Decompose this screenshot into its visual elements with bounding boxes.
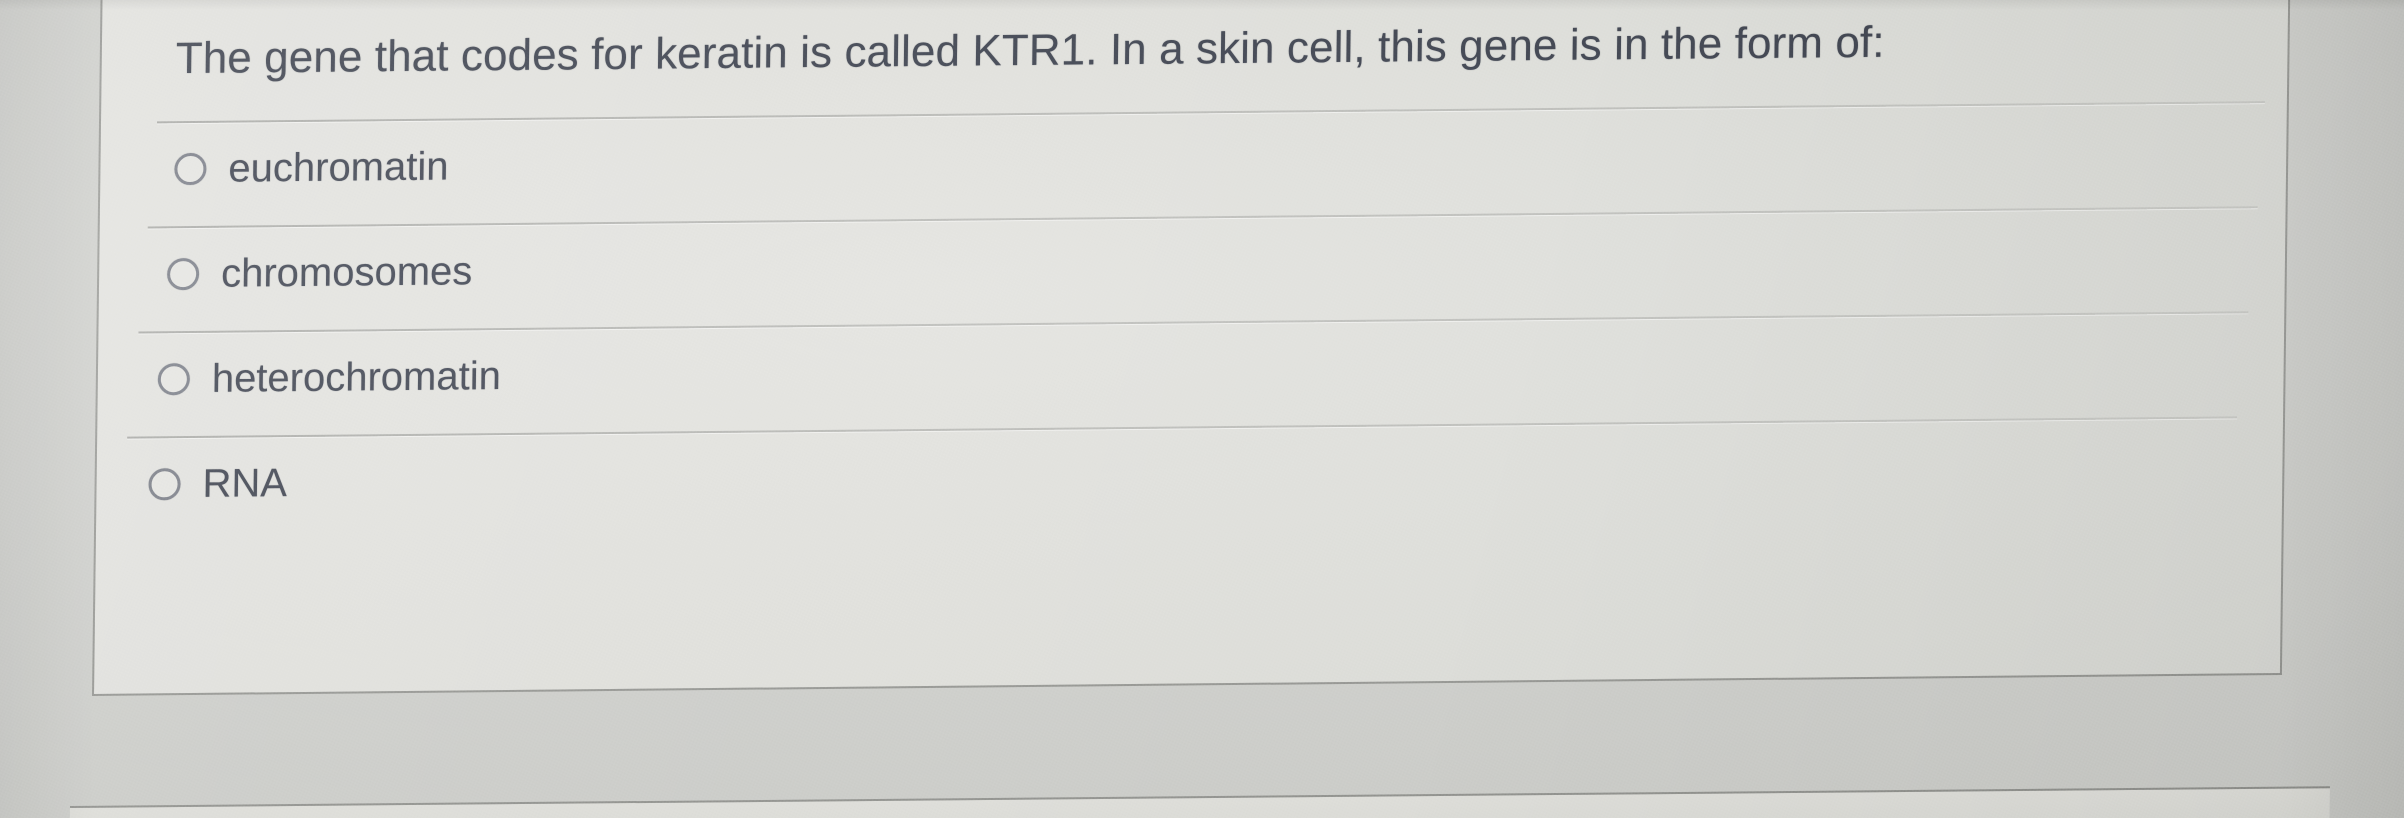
option-content[interactable]: RNA [148,463,287,504]
radio-unchecked-icon[interactable] [148,468,180,500]
screenshot-stage: The gene that codes for keratin is calle… [0,0,2404,818]
surface-shading-right [2274,0,2404,818]
surface-shading-left [0,0,96,818]
radio-unchecked-icon[interactable] [167,258,199,290]
question-card-surface: The gene that codes for keratin is calle… [92,0,2291,696]
surface-shading-top [0,0,2404,10]
radio-unchecked-icon[interactable] [158,363,190,395]
question-text: The gene that codes for keratin is calle… [175,13,2248,86]
option-label: RNA [202,463,287,504]
next-question-card-edge [69,786,2330,818]
question-card-content: The gene that codes for keratin is calle… [94,0,2289,694]
option-divider [157,101,2265,123]
option-content[interactable]: chromosomes [167,251,473,294]
question-card: The gene that codes for keratin is calle… [92,0,2291,696]
option-label: heterochromatin [212,356,502,399]
answer-option-euchromatin[interactable]: euchromatin [100,101,2287,227]
answer-option-rna[interactable]: RNA [96,416,2283,542]
option-label: chromosomes [221,251,473,293]
answer-options-list: euchromatin chromosomes [96,101,2287,542]
option-label: euchromatin [228,147,449,189]
answer-option-chromosomes[interactable]: chromosomes [98,206,2285,332]
answer-option-heterochromatin[interactable]: heterochromatin [97,311,2284,437]
option-content[interactable]: euchromatin [174,147,449,190]
radio-unchecked-icon[interactable] [174,153,206,185]
option-content[interactable]: heterochromatin [158,356,502,399]
